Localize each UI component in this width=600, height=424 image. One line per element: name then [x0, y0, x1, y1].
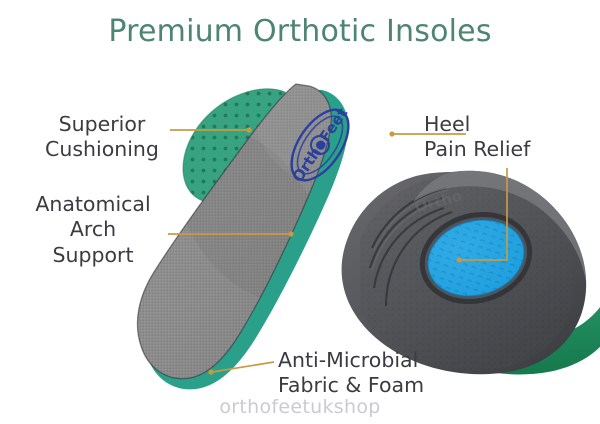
callout-label-arch: Anatomical Arch Support — [8, 192, 178, 268]
leader-dot-fabric — [208, 369, 213, 374]
leader-dot-heel — [389, 131, 394, 136]
leader-dot-heel-gel — [456, 257, 461, 262]
leader-dot-cushioning — [246, 127, 251, 132]
leader-dot-arch — [288, 231, 293, 236]
callout-label-fabric: Anti-Microbial Fabric & Foam — [278, 348, 518, 399]
callout-label-heel: Heel Pain Relief — [424, 112, 600, 163]
watermark: orthofeetukshop — [0, 396, 600, 418]
product-infographic: Premium Orthotic Insoles — [0, 0, 600, 424]
callout-label-cushioning: Superior Cushioning — [18, 112, 186, 163]
